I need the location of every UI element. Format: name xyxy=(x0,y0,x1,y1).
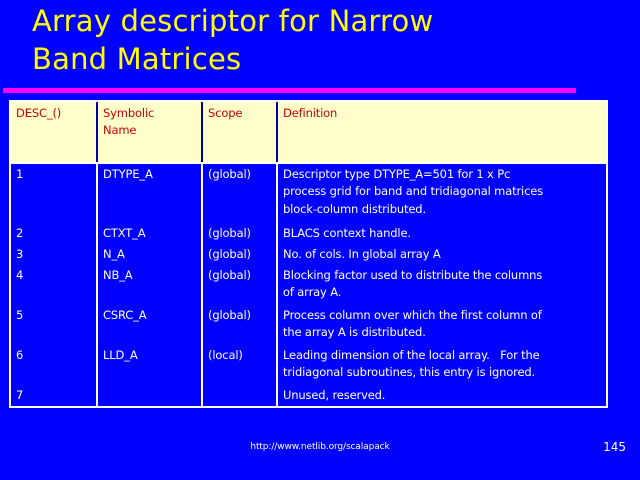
cell-symbolic-name: NB_A xyxy=(97,265,202,305)
cell-scope: (local) xyxy=(202,345,277,385)
cell-definition: No. of cols. In global array A xyxy=(277,244,606,265)
definition-line: block-column distributed. xyxy=(283,201,601,218)
cell-definition: Blocking factor used to distribute the c… xyxy=(277,265,606,305)
footer-page-number: 145 xyxy=(603,440,626,454)
cell-scope: (global) xyxy=(202,305,277,345)
cell-symbolic-name xyxy=(97,385,202,406)
definition-line: Process column over which the first colu… xyxy=(283,307,601,324)
footer-url[interactable]: http://www.netlib.org/scalapack xyxy=(0,442,640,452)
cell-desc-index: 2 xyxy=(11,223,97,244)
cell-symbolic-name: CTXT_A xyxy=(97,223,202,244)
definition-line: the array A is distributed. xyxy=(283,324,601,341)
column-header-desc: DESC_() xyxy=(11,102,97,163)
cell-scope: (global) xyxy=(202,223,277,244)
definition-line: No. of cols. In global array A xyxy=(283,246,601,263)
definition-line: process grid for band and tridiagonal ma… xyxy=(283,183,601,200)
cell-scope: (global) xyxy=(202,265,277,305)
definition-line: of array A. xyxy=(283,284,601,301)
table-row: 4 NB_A (global) Blocking factor used to … xyxy=(11,265,606,305)
page-title: Array descriptor for Narrow Band Matrice… xyxy=(32,2,592,78)
table-row: 7 Unused, reserved. xyxy=(11,385,606,406)
table-row: 6 LLD_A (local) Leading dimension of the… xyxy=(11,345,606,385)
cell-symbolic-name: CSRC_A xyxy=(97,305,202,345)
array-descriptor-table: DESC_() Symbolic Name Scope Definition 1… xyxy=(9,100,608,408)
cell-definition: Leading dimension of the local array. Fo… xyxy=(277,345,606,385)
table-row: 2 CTXT_A (global) BLACS context handle. xyxy=(11,223,606,244)
cell-scope xyxy=(202,385,277,406)
cell-symbolic-name: N_A xyxy=(97,244,202,265)
cell-symbolic-name: DTYPE_A xyxy=(97,163,202,223)
cell-desc-index: 1 xyxy=(11,163,97,223)
slide-canvas: Array descriptor for Narrow Band Matrice… xyxy=(0,0,640,480)
cell-desc-index: 6 xyxy=(11,345,97,385)
cell-desc-index: 4 xyxy=(11,265,97,305)
definition-line: Leading dimension of the local array. Fo… xyxy=(283,347,601,364)
cell-desc-index: 3 xyxy=(11,244,97,265)
column-header-scope: Scope xyxy=(202,102,277,163)
cell-symbolic-name: LLD_A xyxy=(97,345,202,385)
title-divider-rule xyxy=(3,88,576,93)
column-header-definition: Definition xyxy=(277,102,606,163)
cell-definition: Descriptor type DTYPE_A=501 for 1 x Pc p… xyxy=(277,163,606,223)
cell-desc-index: 5 xyxy=(11,305,97,345)
cell-definition: BLACS context handle. xyxy=(277,223,606,244)
definition-line: tridiagonal subroutines, this entry is i… xyxy=(283,364,601,381)
column-header-symbolic-name: Symbolic Name xyxy=(97,102,202,163)
cell-definition: Unused, reserved. xyxy=(277,385,606,406)
cell-scope: (global) xyxy=(202,244,277,265)
table-row: 3 N_A (global) No. of cols. In global ar… xyxy=(11,244,606,265)
cell-scope: (global) xyxy=(202,163,277,223)
definition-line: Blocking factor used to distribute the c… xyxy=(283,267,601,284)
cell-desc-index: 7 xyxy=(11,385,97,406)
table-row: 1 DTYPE_A (global) Descriptor type DTYPE… xyxy=(11,163,606,223)
cell-definition: Process column over which the first colu… xyxy=(277,305,606,345)
definition-line: Descriptor type DTYPE_A=501 for 1 x Pc xyxy=(283,166,601,183)
table-header-row: DESC_() Symbolic Name Scope Definition xyxy=(11,102,606,163)
definition-line: Unused, reserved. xyxy=(283,387,601,404)
table-row: 5 CSRC_A (global) Process column over wh… xyxy=(11,305,606,345)
definition-line: BLACS context handle. xyxy=(283,225,601,242)
